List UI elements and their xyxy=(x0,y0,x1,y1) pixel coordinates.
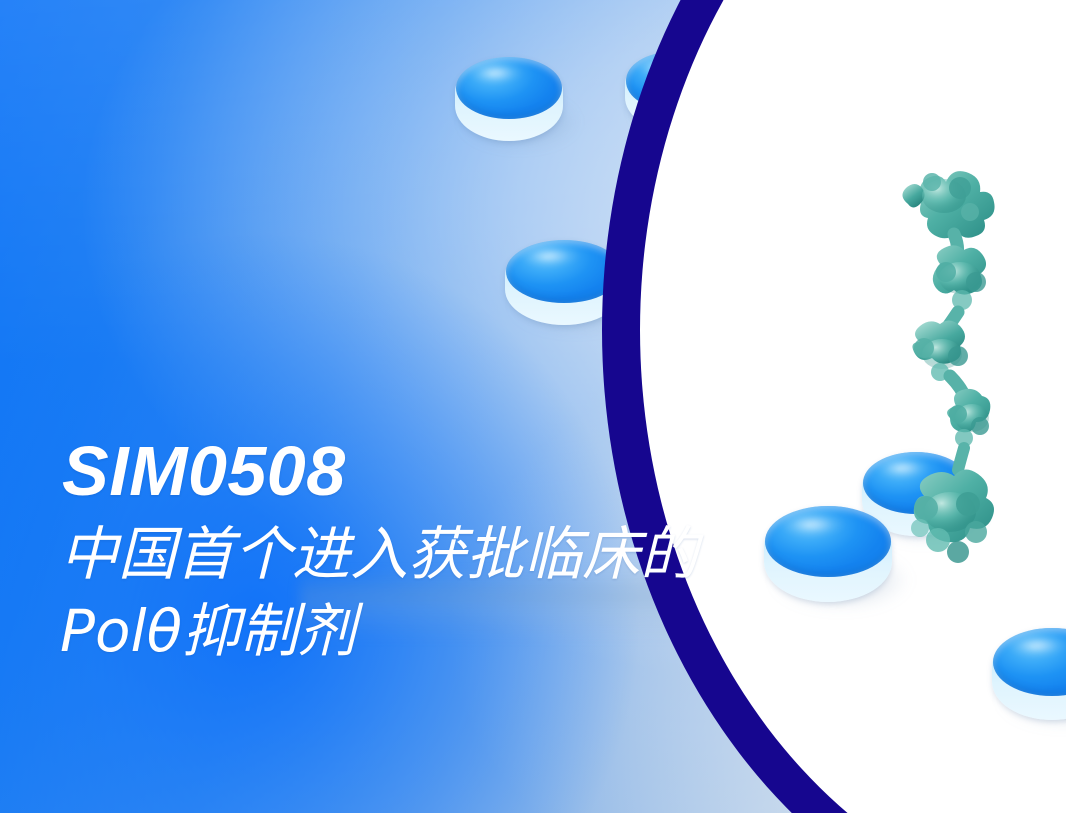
subtitle-line-1: 中国首个进入获批临床的 xyxy=(60,516,878,593)
blue-tablet xyxy=(455,57,563,141)
tablet-highlight xyxy=(1006,634,1066,658)
subtitle-line-2: Polθ抑制剂 xyxy=(60,593,878,670)
tablet-highlight xyxy=(468,62,524,84)
poster-canvas: SIM0508 中国首个进入获批临床的 Polθ抑制剂 xyxy=(0,0,1066,813)
page-title: SIM0508 xyxy=(62,436,878,506)
tablet-highlight xyxy=(519,245,580,267)
poster-text-block: SIM0508 中国首个进入获批临床的 Polθ抑制剂 xyxy=(58,436,878,670)
blue-tablet xyxy=(992,628,1066,720)
